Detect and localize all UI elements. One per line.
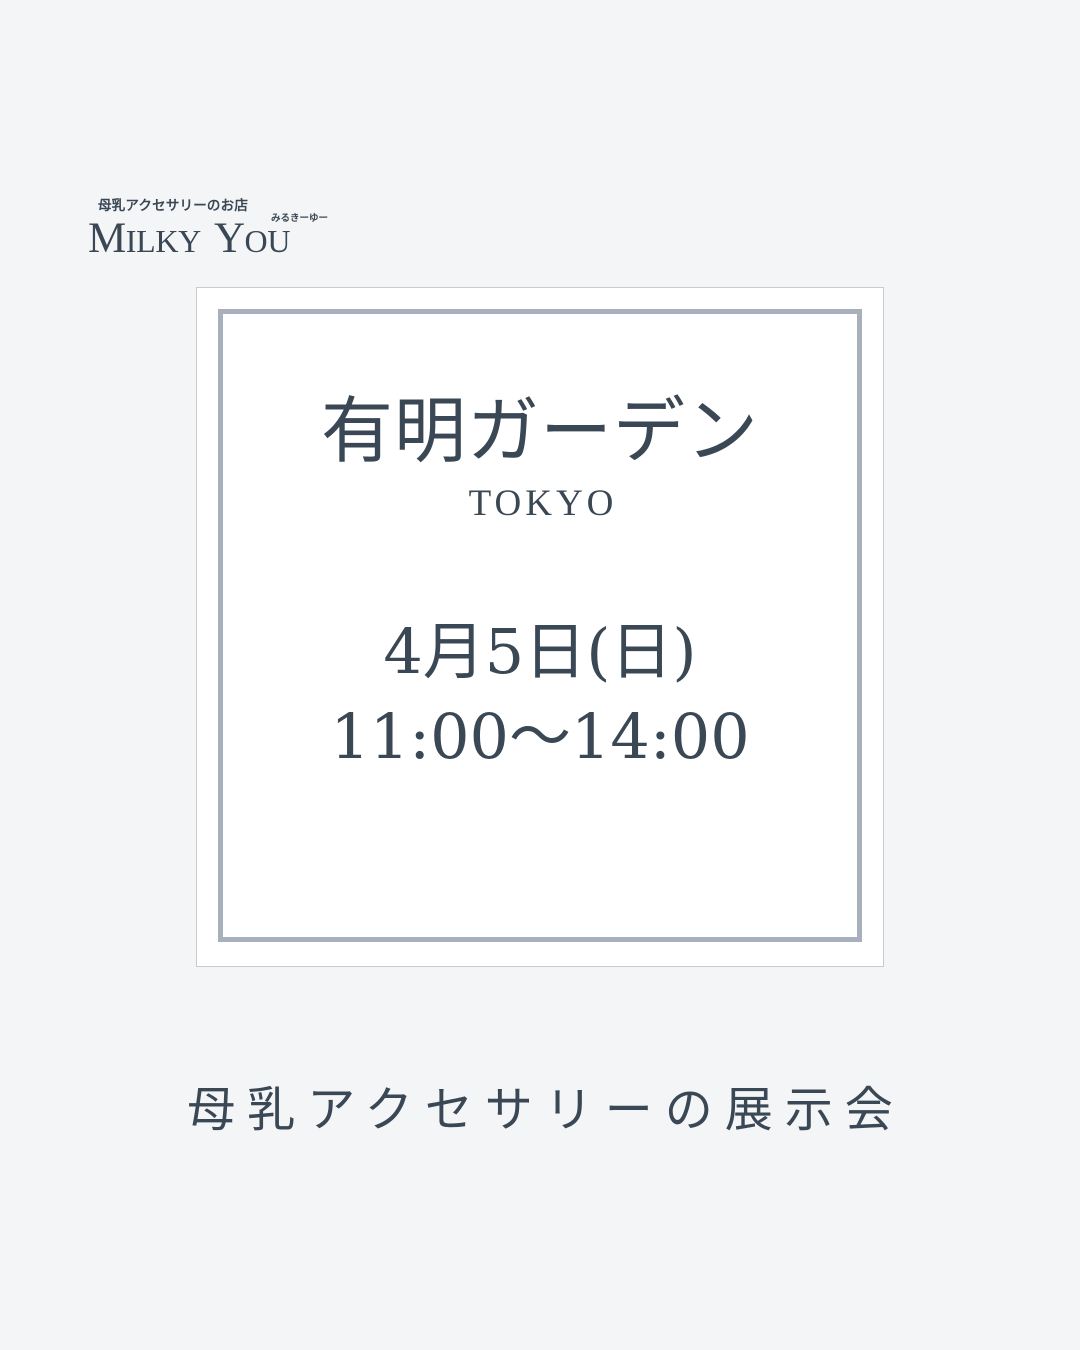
- brand-tagline: 母乳アクセサリーのお店: [98, 200, 328, 214]
- wordmark-milky-initial: M: [88, 215, 126, 262]
- event-card-inner-frame: 有明ガーデン TOKYO 4月5日(日) 11:00〜14:00: [218, 309, 862, 942]
- brand-logo[interactable]: 母乳アクセサリーのお店 MILKYYOU みるきーゆー: [88, 200, 328, 262]
- event-date: 4月5日(日): [330, 610, 749, 694]
- venue-region: TOKYO: [469, 485, 618, 522]
- event-caption: 母乳アクセサリーの展示会: [0, 1082, 1080, 1140]
- wordmark-ruby-annotation: みるきーゆー: [271, 214, 328, 224]
- venue-name: 有明ガーデン: [321, 392, 759, 471]
- wordmark-milky-rest: ILKY: [126, 223, 201, 259]
- event-schedule: 4月5日(日) 11:00〜14:00: [330, 610, 749, 779]
- brand-wordmark: MILKYYOU みるきーゆー: [88, 217, 328, 257]
- wordmark-you-initial: Y: [214, 215, 245, 262]
- wordmark-you-rest: OU: [245, 223, 291, 259]
- event-time: 11:00〜14:00: [330, 695, 749, 779]
- event-card: 有明ガーデン TOKYO 4月5日(日) 11:00〜14:00: [196, 287, 884, 967]
